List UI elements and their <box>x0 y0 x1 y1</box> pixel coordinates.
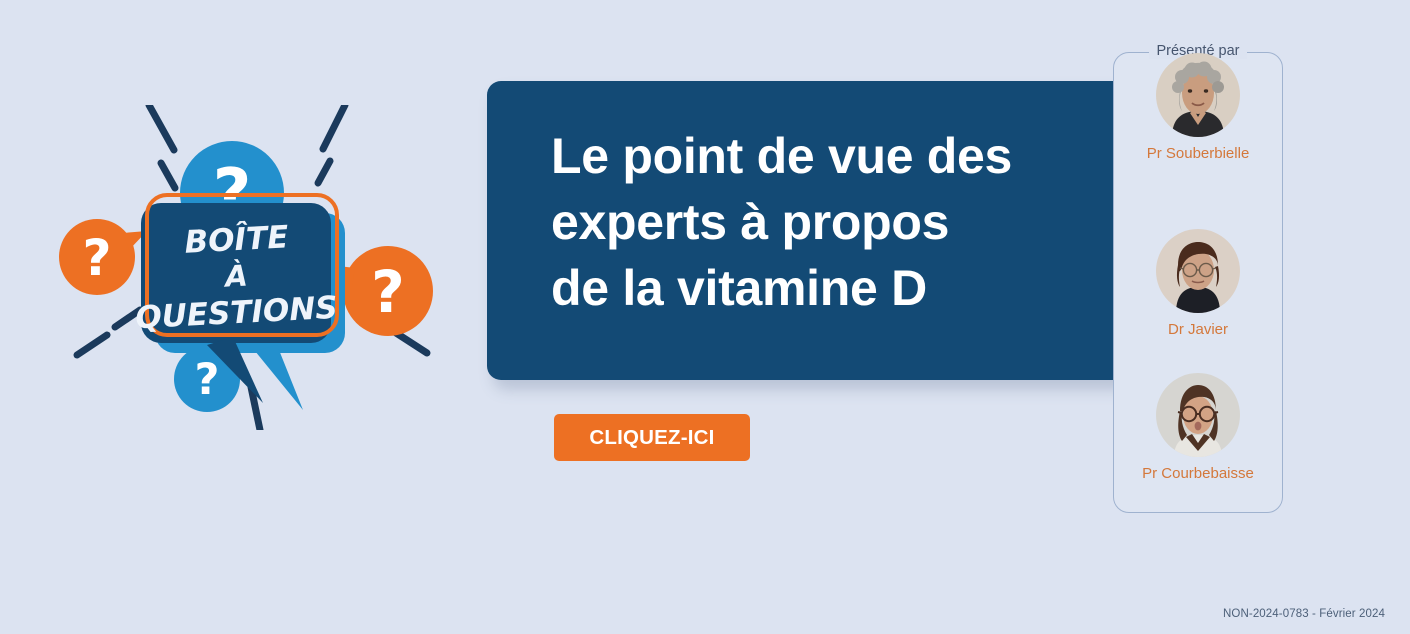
expert-avatar-pr-courbebaisse[interactable] <box>1156 373 1240 457</box>
expert-name: Dr Javier <box>1114 321 1282 338</box>
expert-item[interactable]: Pr Courbebaisse <box>1114 373 1282 482</box>
title-panel: Le point de vue des experts à propos de … <box>487 81 1127 380</box>
svg-text:BOÎTE: BOÎTE <box>184 219 290 260</box>
svg-text:À: À <box>222 258 248 293</box>
boite-a-questions-logo: ? ? ? ? <box>55 105 445 430</box>
promotional-banner: ? ? ? ? <box>0 0 1410 634</box>
question-bubble-right: ? <box>330 246 433 336</box>
title-line-2: experts à propos <box>551 189 1096 255</box>
svg-text:?: ? <box>195 355 220 405</box>
cliquez-ici-button[interactable]: CLIQUEZ-ICI <box>554 414 750 461</box>
title-line-3: de la vitamine D <box>551 255 1096 321</box>
title-line-1: Le point de vue des <box>551 123 1096 189</box>
expert-avatar-pr-souberbielle[interactable] <box>1156 53 1240 137</box>
page-title: Le point de vue des experts à propos de … <box>551 123 1096 321</box>
expert-avatar-dr-javier[interactable] <box>1156 229 1240 313</box>
question-bubble-left: ? <box>59 219 147 295</box>
svg-text:?: ? <box>371 258 405 326</box>
expert-name: Pr Souberbielle <box>1114 145 1282 162</box>
presented-by-panel: Présenté par <box>1113 52 1283 513</box>
expert-item[interactable]: Pr Souberbielle <box>1114 53 1282 162</box>
expert-name: Pr Courbebaisse <box>1114 465 1282 482</box>
legal-code: NON-2024-0783 - Février 2024 <box>1223 608 1385 620</box>
expert-item[interactable]: Dr Javier <box>1114 229 1282 338</box>
svg-text:?: ? <box>82 229 111 287</box>
